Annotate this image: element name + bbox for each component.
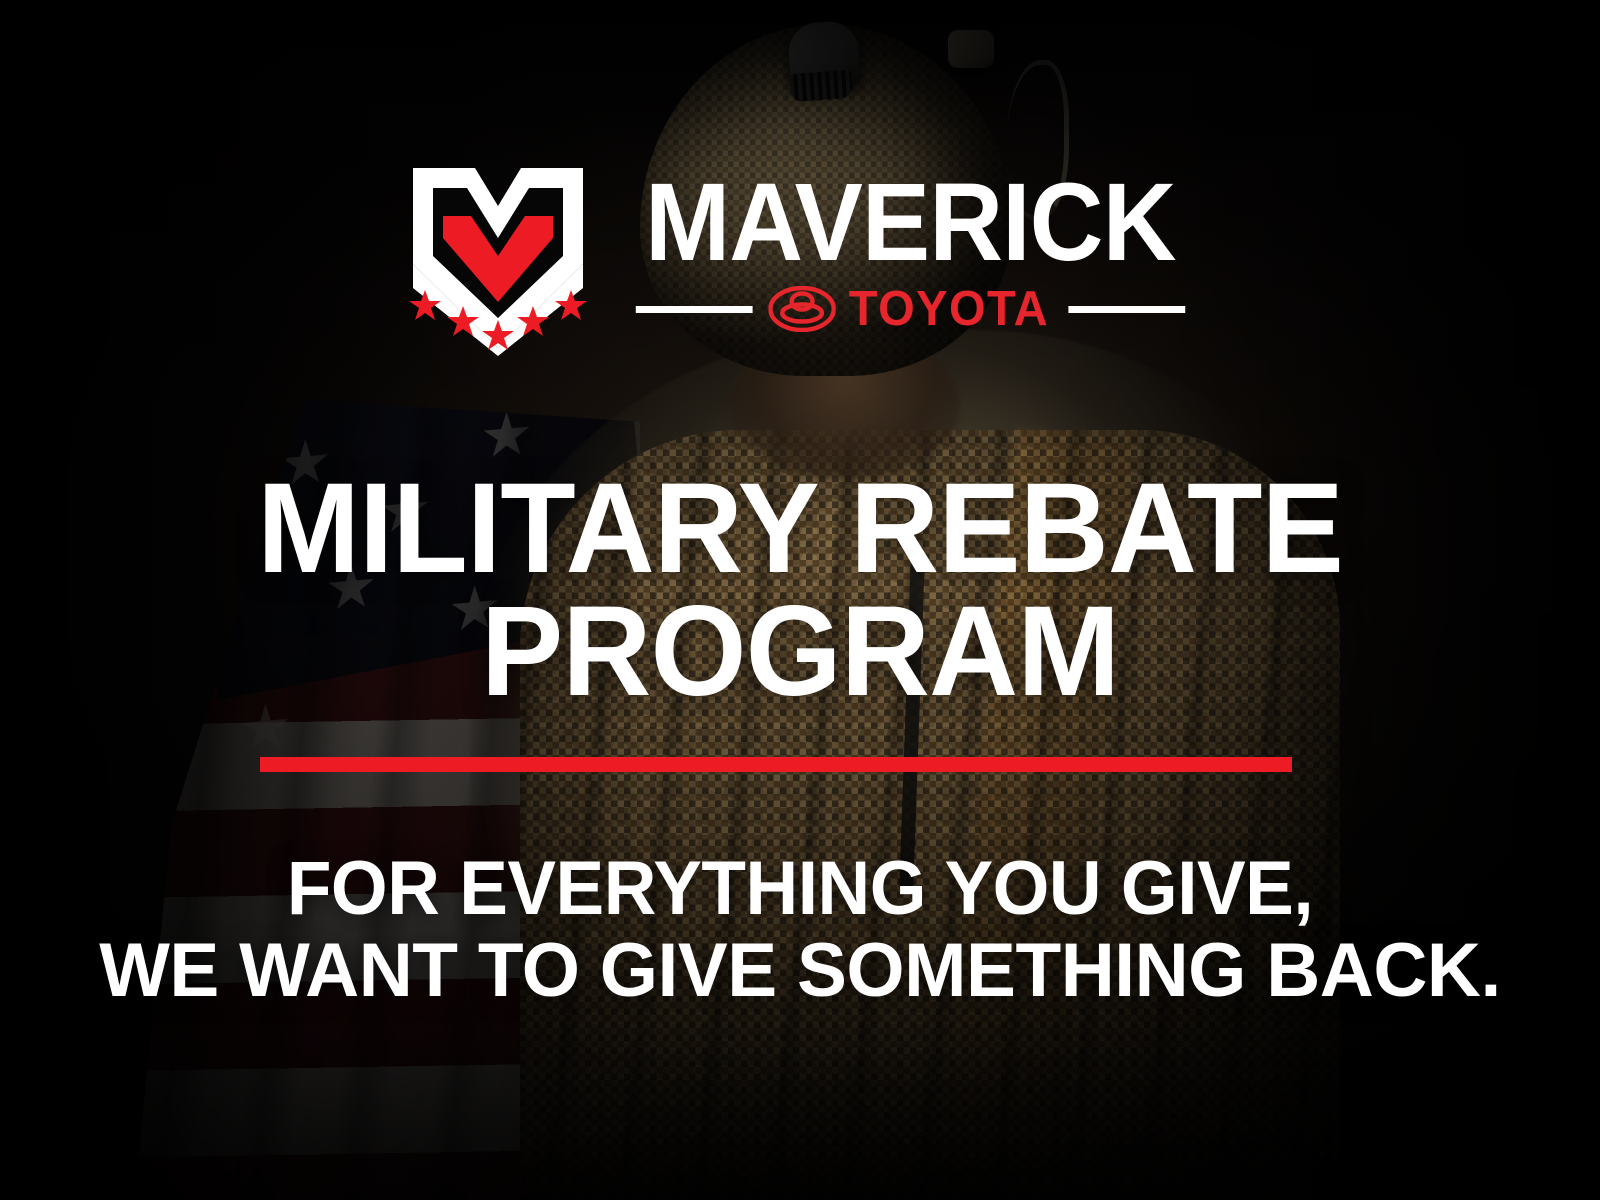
tagline: FOR EVERYTHING YOU GIVE, WE WANT TO GIVE… <box>0 848 1600 1012</box>
maverick-toyota-logo-lockup[interactable]: MAVERICK TOYOTA <box>0 160 1600 356</box>
tagline-line-2: WE WANT TO GIVE SOMETHING BACK. <box>12 930 1588 1012</box>
headline-line-2: PROGRAM <box>28 591 1572 714</box>
logo-text-column: MAVERICK TOYOTA <box>625 160 1196 334</box>
military-rebate-poster: MAVERICK TOYOTA MILITARY <box>0 0 1600 1200</box>
red-divider-bar <box>260 757 1292 772</box>
toyota-wordmark: TOYOTA <box>848 285 1048 334</box>
poster-content: MAVERICK TOYOTA MILITARY <box>0 0 1600 1200</box>
maverick-wordmark: MAVERICK <box>645 176 1176 271</box>
left-rule-divider <box>635 306 752 313</box>
toyota-brand-row: TOYOTA <box>635 285 1184 334</box>
page-title: MILITARY REBATE PROGRAM <box>0 468 1600 714</box>
toyota-ellipse-logo <box>768 286 835 332</box>
right-rule-divider <box>1068 306 1185 313</box>
headline-line-1: MILITARY REBATE <box>28 468 1572 591</box>
toyota-brand-mark: TOYOTA <box>768 285 1052 334</box>
maverick-chevron-shield-emblem <box>405 160 591 356</box>
tagline-line-1: FOR EVERYTHING YOU GIVE, <box>32 848 1568 930</box>
